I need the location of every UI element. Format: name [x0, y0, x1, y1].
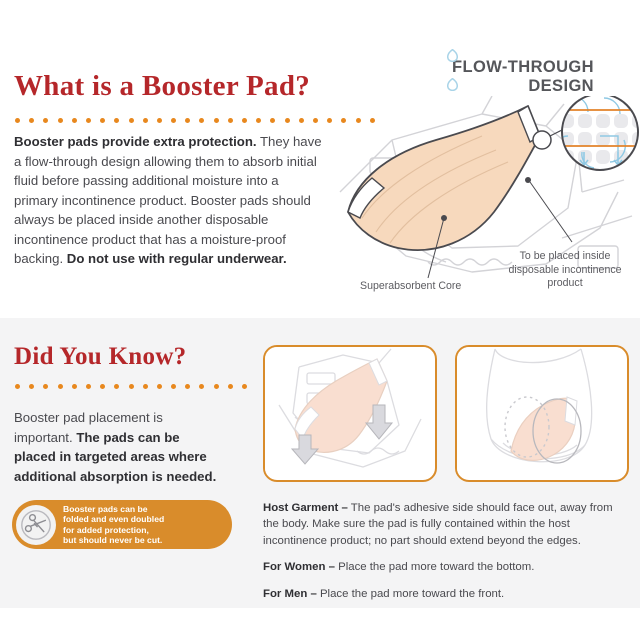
water-droplet-icon: [447, 49, 458, 62]
callout-superabsorbent-core: Superabsorbent Core: [360, 280, 461, 294]
folding-tip-text: Booster pads can be folded and even doub…: [63, 504, 164, 546]
instruction-text: Place the pad more toward the bottom.: [335, 561, 534, 573]
infographic-page: What is a Booster Pad? Booster pads prov…: [0, 0, 640, 640]
dotted-divider-bottom: [15, 384, 247, 389]
placement-instructions: Host Garment – The pad's adhesive side s…: [263, 500, 625, 602]
dotted-divider-top: [15, 118, 375, 123]
pad-placement-arrows-illustration: [263, 345, 437, 482]
instruction-text: Place the pad more toward the front.: [317, 588, 504, 600]
folding-tip-callout: Booster pads can be folded and even doub…: [12, 500, 232, 549]
did-you-know-paragraph: Booster pad placement is important. The …: [14, 408, 224, 486]
tip-line-3: for added protection,: [63, 525, 164, 535]
did-you-know-title: Did You Know?: [14, 343, 186, 371]
pad-inside-brief-illustration: [455, 345, 629, 482]
intro-warning: Do not use with regular underwear.: [67, 251, 287, 266]
instruction-lead: Host Garment –: [263, 502, 348, 514]
logo-line-2: DESIGN: [404, 77, 594, 96]
section-what-is-a-booster-pad: What is a Booster Pad? Booster pads prov…: [0, 0, 640, 318]
tip-line-4: but should never be cut.: [63, 535, 164, 545]
instruction-lead: For Men –: [263, 588, 317, 600]
logo-line-1: FLOW-THROUGH: [404, 58, 594, 77]
instruction-for-men: For Men – Place the pad more toward the …: [263, 586, 625, 602]
tip-line-2: folded and even doubled: [63, 514, 164, 524]
instruction-host-garment: Host Garment – The pad's adhesive side s…: [263, 500, 625, 549]
intro-lead: Booster pads provide extra protection.: [14, 134, 257, 149]
intro-paragraph: Booster pads provide extra protection. T…: [14, 132, 326, 269]
tip-line-1: Booster pads can be: [63, 504, 164, 514]
callout-to-be-placed-inside: To be placed inside disposable incontine…: [505, 250, 625, 291]
intro-rest: They have a flow-through design allowing…: [14, 134, 322, 266]
flow-through-design-logo: FLOW-THROUGH DESIGN: [404, 58, 594, 96]
scissors-icon: [16, 505, 56, 545]
instruction-for-women: For Women – Place the pad more toward th…: [263, 559, 625, 575]
instruction-lead: For Women –: [263, 561, 335, 573]
page-title: What is a Booster Pad?: [14, 70, 310, 103]
water-droplet-icon: [447, 78, 458, 91]
